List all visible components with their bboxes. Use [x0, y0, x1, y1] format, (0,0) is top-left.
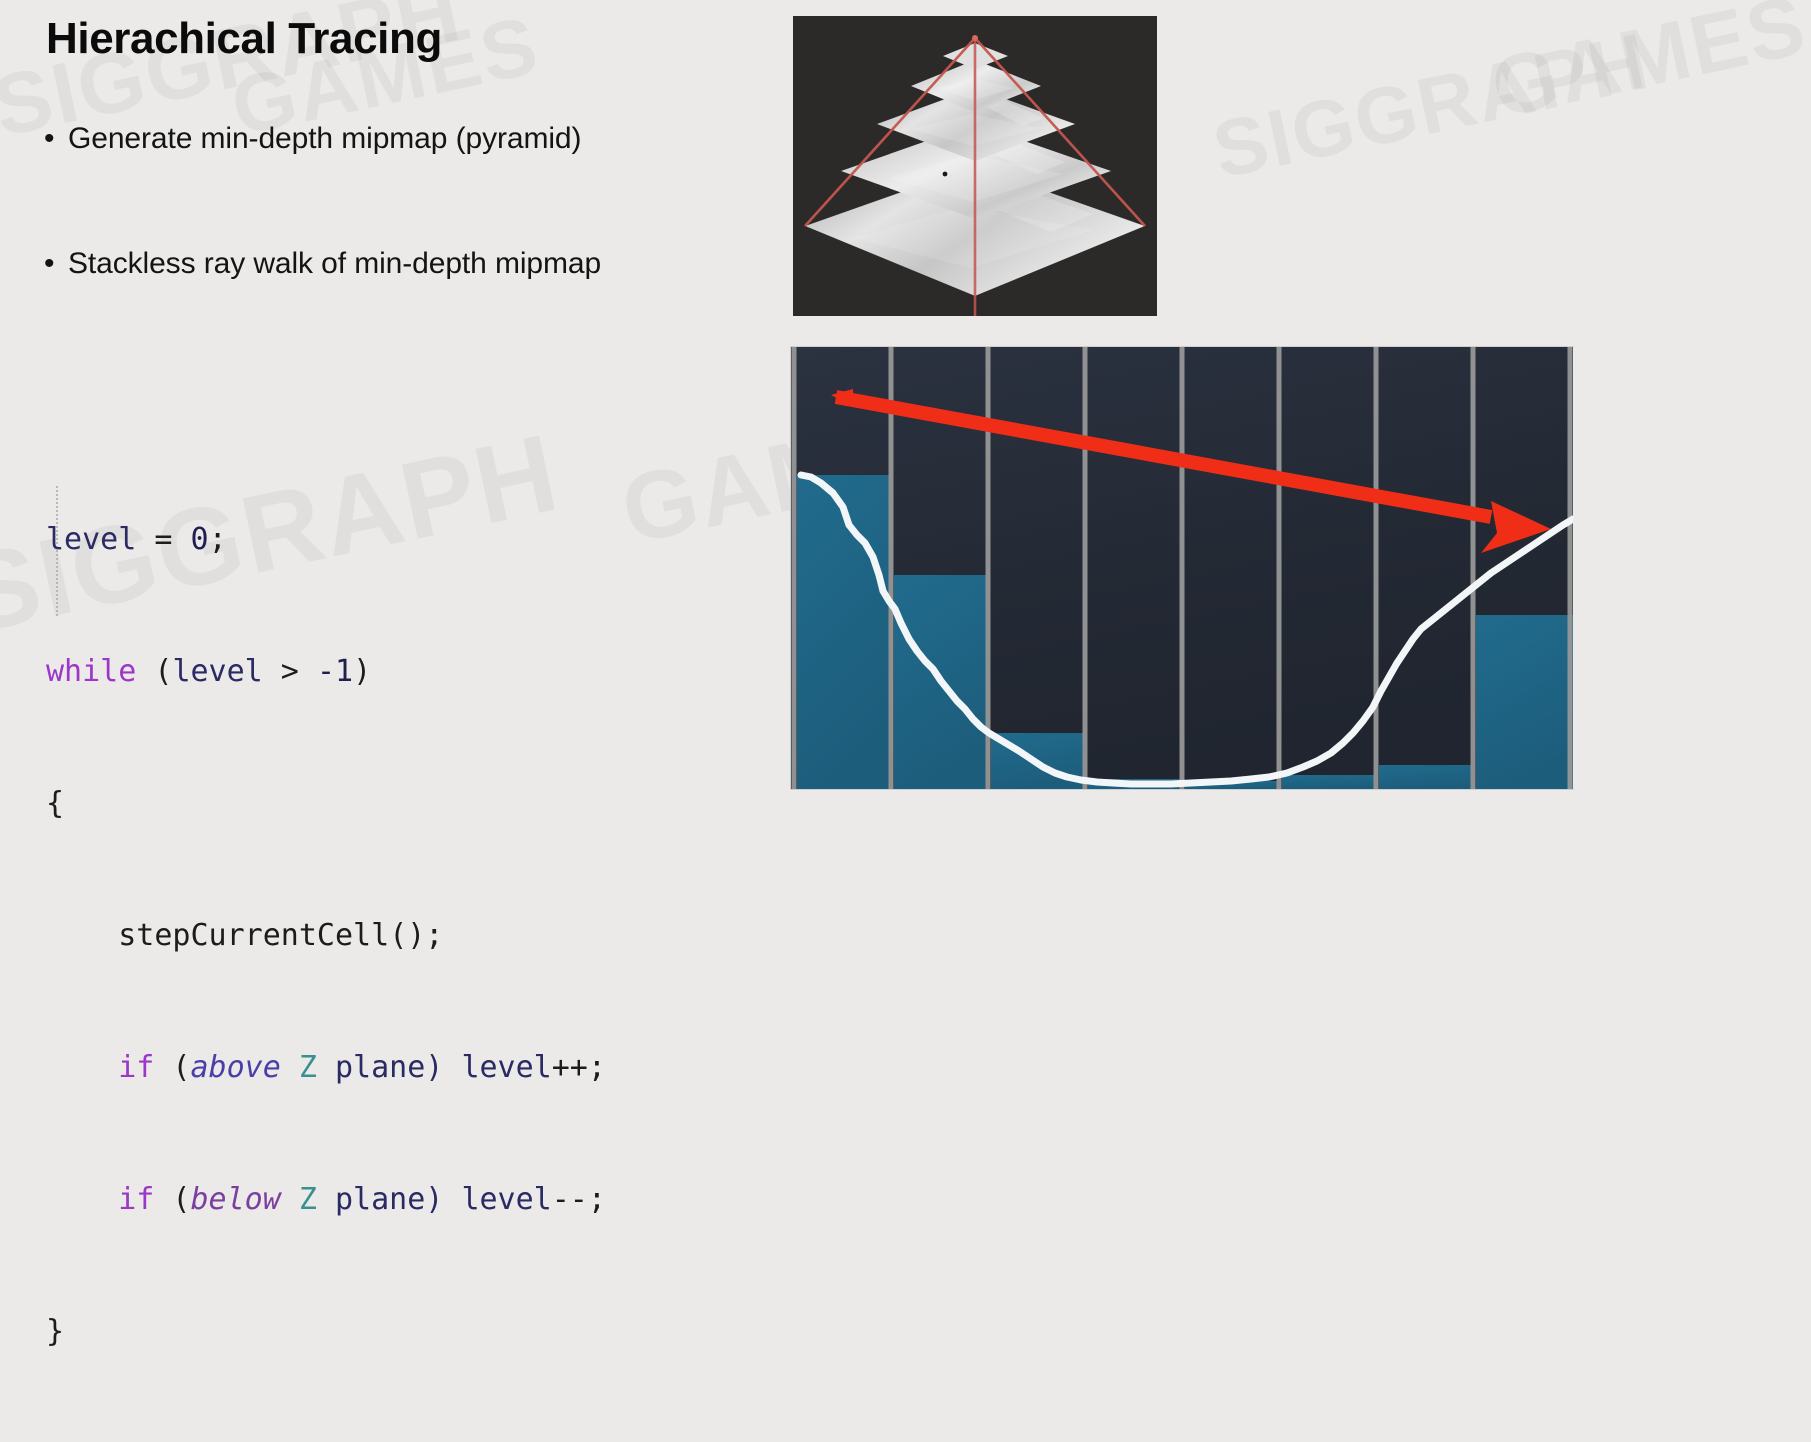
code-line: { — [46, 782, 606, 826]
code-token: ) — [353, 654, 371, 689]
bullet-item: • Stackless ray walk of min-depth mipmap — [44, 247, 601, 281]
code-token: = — [136, 522, 190, 557]
code-line: while (level > -1) — [46, 650, 606, 694]
code-token: ++; — [552, 1050, 606, 1085]
bullet-marker-icon: • — [44, 247, 68, 281]
code-token: ( — [136, 654, 172, 689]
watermark-text: GAMES — [1483, 0, 1811, 137]
code-token: 0 — [191, 522, 209, 557]
slide-content-left: Hierachical Tracing • Generate min-depth… — [0, 0, 790, 922]
code-token: { — [46, 786, 64, 821]
code-line: stepCurrentCell(); — [46, 914, 606, 958]
code-token: while — [46, 654, 136, 689]
code-token: > — [263, 654, 317, 689]
code-token: ( — [154, 1182, 190, 1217]
code-token — [281, 1182, 299, 1217]
code-token: ; — [209, 522, 227, 557]
depth-walk-svg — [791, 347, 1573, 789]
code-token: if — [118, 1182, 154, 1217]
code-block: level = 0; while (level > -1) { stepCurr… — [46, 386, 606, 1442]
code-token: plane) — [317, 1050, 462, 1085]
page-title: Hierachical Tracing — [46, 14, 442, 64]
code-token — [46, 1050, 118, 1085]
code-token: ( — [154, 1050, 190, 1085]
code-token: above — [191, 1050, 281, 1085]
bullet-item: • Generate min-depth mipmap (pyramid) — [44, 122, 581, 156]
code-token: level — [461, 1050, 551, 1085]
code-token: Z — [299, 1182, 317, 1217]
code-token: --; — [552, 1182, 606, 1217]
depth-buffer-image — [791, 347, 1573, 789]
code-token: plane) — [317, 1182, 462, 1217]
code-token: level — [46, 522, 136, 557]
code-token: below — [191, 1182, 281, 1217]
code-line: level = 0; — [46, 518, 606, 562]
code-token: stepCurrentCell — [118, 918, 389, 953]
code-token: Z — [299, 1050, 317, 1085]
code-line: } — [46, 1310, 606, 1354]
code-token — [46, 1182, 118, 1217]
bullet-text: Generate min-depth mipmap (pyramid) — [68, 122, 581, 156]
pyramid-render-svg — [793, 16, 1157, 316]
bullet-text: Stackless ray walk of min-depth mipmap — [68, 247, 601, 281]
code-token: -1 — [317, 654, 353, 689]
code-token: level — [461, 1182, 551, 1217]
code-token: level — [172, 654, 262, 689]
slide-right-margin — [1573, 347, 1811, 789]
code-token — [46, 918, 118, 953]
code-line: if (above Z plane) level++; — [46, 1046, 606, 1090]
code-token: if — [118, 1050, 154, 1085]
watermark-text: SIGGRAPH — [1205, 15, 1657, 197]
code-line: if (below Z plane) level--; — [46, 1178, 606, 1222]
code-token: } — [46, 1314, 64, 1349]
code-token — [281, 1050, 299, 1085]
bullet-marker-icon: • — [44, 122, 68, 156]
mipmap-pyramid-image — [793, 16, 1157, 316]
code-token: (); — [389, 918, 443, 953]
